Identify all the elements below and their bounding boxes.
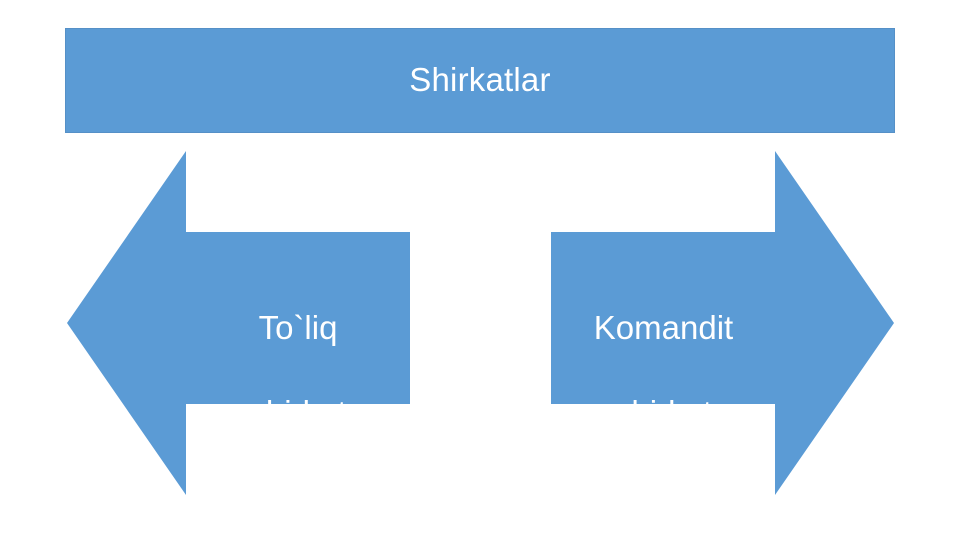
title-banner[interactable]: Shirkatlar: [65, 28, 895, 133]
right-arrow-shape[interactable]: [468, 148, 898, 498]
left-arrow-shape[interactable]: [63, 148, 493, 498]
page-title: Shirkatlar: [409, 62, 550, 98]
slide-canvas: Shirkatlar To`liq shirkat Komandit shirk…: [0, 0, 961, 540]
left-arrow-icon: [63, 148, 493, 498]
right-arrow-icon: [468, 148, 898, 498]
